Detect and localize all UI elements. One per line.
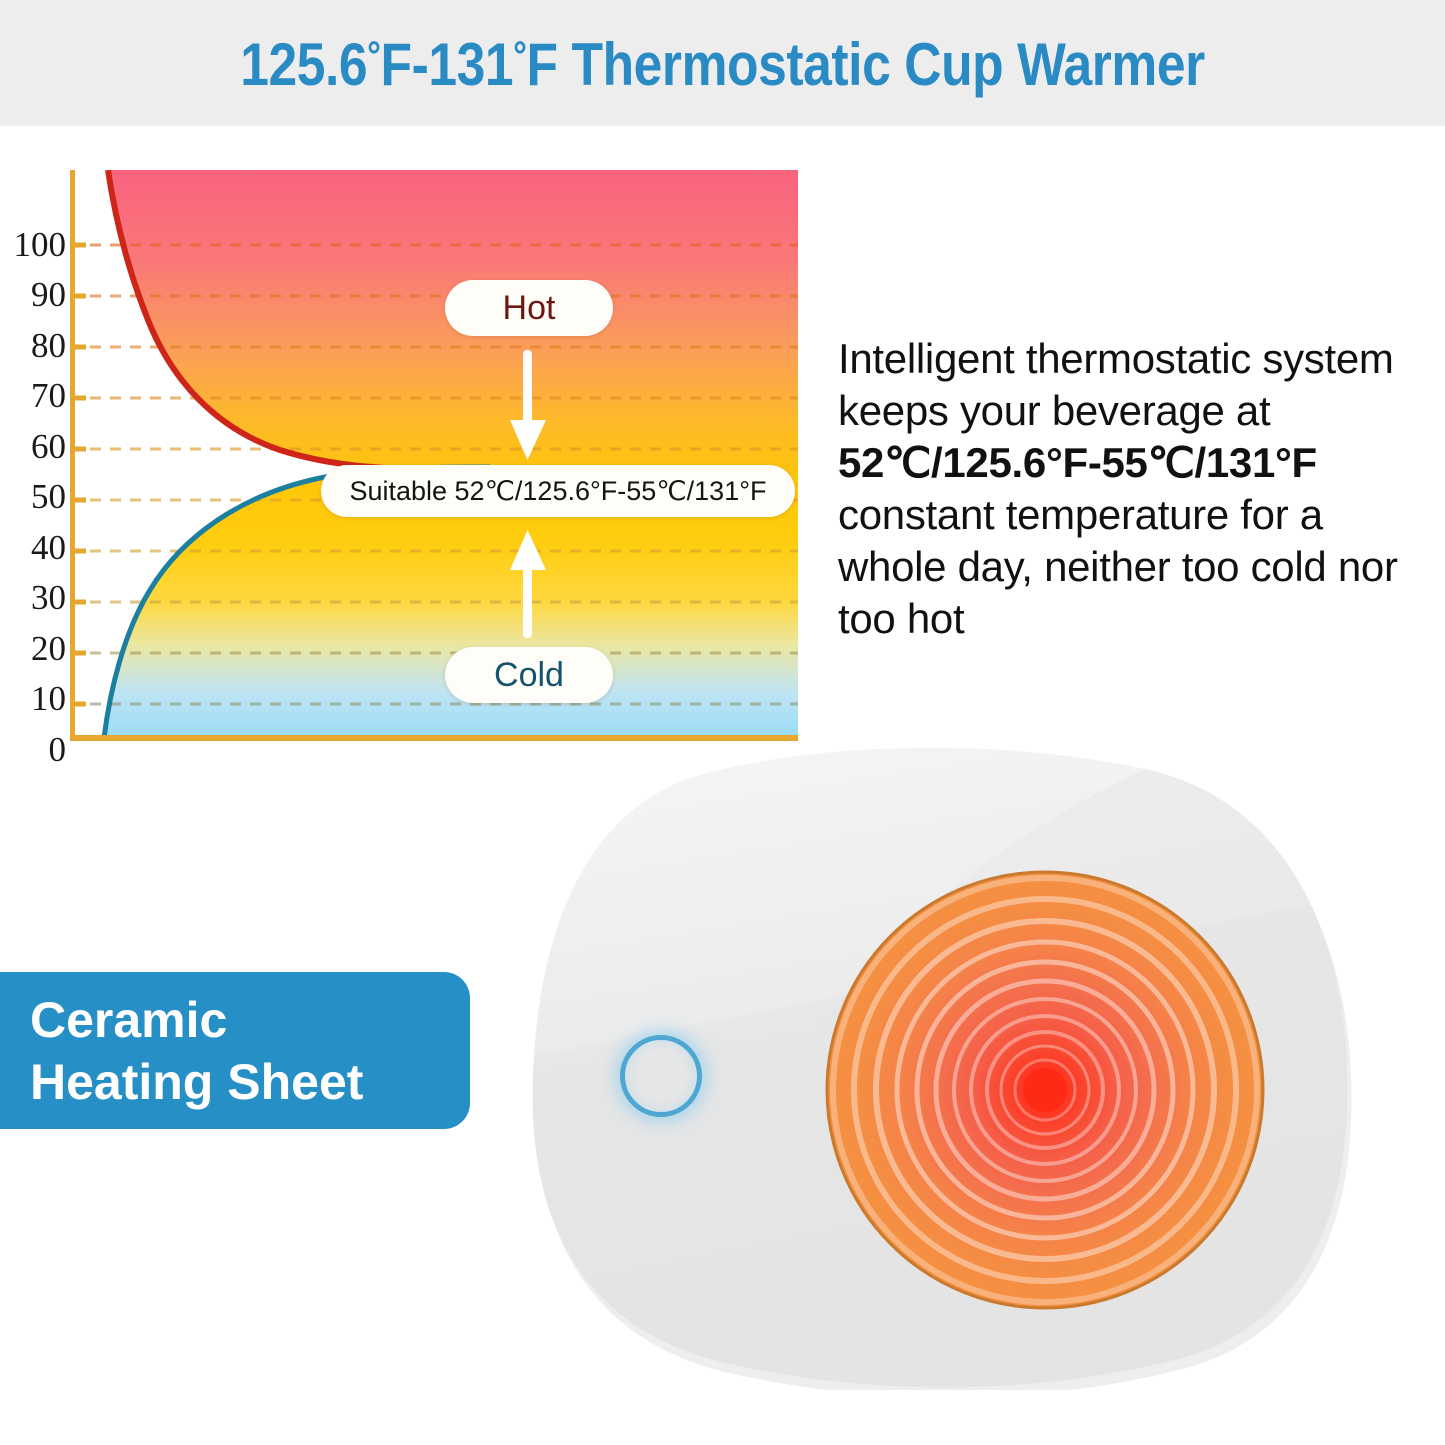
y-tick-60: 60 [0, 429, 66, 464]
y-tick-70: 70 [0, 378, 66, 413]
celsius-symbol-2: ℃ [656, 476, 686, 507]
y-tick-40: 40 [0, 530, 66, 565]
feature-line-1: Intelligent thermostatic system [838, 335, 1394, 382]
feature-description: Intelligent thermostatic system keeps yo… [838, 333, 1438, 645]
hot-label-pill: Hot [445, 280, 613, 336]
page-title-mid: F-131 [381, 31, 514, 98]
feature-line-2a: keeps your beverage at [838, 387, 1270, 434]
y-tick-0: 0 [0, 732, 66, 767]
page-title: 125.6°F-131°F Thermostatic Cup Warmer [101, 30, 1344, 99]
cup-warmer-device [515, 745, 1355, 1390]
y-tick-80: 80 [0, 328, 66, 363]
cold-label-pill: Cold [445, 647, 613, 703]
y-tick-30: 30 [0, 580, 66, 615]
suitable-mid-1: /125.6 [515, 476, 590, 507]
suitable-range-pill: Suitable 52℃/125.6°F-55℃/131°F [321, 465, 795, 517]
celsius-symbol-1: ℃ [485, 476, 515, 507]
hot-label-text: Hot [503, 289, 556, 328]
power-button[interactable] [620, 1035, 702, 1117]
degree-symbol-3: ° [590, 476, 601, 507]
y-tick-90: 90 [0, 277, 66, 312]
degree-symbol-4: ° [739, 476, 750, 507]
badge-line-2: Heating Sheet [30, 1051, 470, 1113]
y-tick-100: 100 [0, 227, 66, 262]
chart-y-axis-labels: 100 90 80 70 60 50 40 30 20 10 0 [0, 150, 66, 770]
page-title-prefix: 125.6 [240, 31, 367, 98]
suitable-mid-3: /131 [687, 476, 740, 507]
page-title-suffix: F Thermostatic Cup Warmer [526, 31, 1204, 98]
y-tick-20: 20 [0, 631, 66, 666]
suitable-mid-2: F-55 [601, 476, 657, 507]
badge-line-1: Ceramic [30, 989, 470, 1051]
feature-temp-bold-1: 52℃/ [838, 439, 942, 486]
temperature-chart: 100 90 80 70 60 50 40 30 20 10 0 [0, 150, 820, 770]
degree-symbol-1: ° [367, 34, 380, 78]
chart-plot-area: Hot Cold Suitable 52℃/125.6°F-55℃/131°F [70, 170, 798, 738]
degree-symbol-2: ° [513, 34, 526, 78]
heating-core [1023, 1068, 1067, 1112]
ceramic-heating-sheet-badge: Ceramic Heating Sheet [0, 972, 470, 1129]
suitable-suffix: F [750, 476, 767, 507]
feature-temp-bold-2: 125.6°F-55℃/131°F [942, 439, 1317, 486]
cold-label-text: Cold [494, 656, 564, 695]
y-tick-10: 10 [0, 681, 66, 716]
y-tick-50: 50 [0, 479, 66, 514]
suitable-prefix: Suitable 52 [349, 476, 484, 507]
feature-line-3a: constant [838, 491, 994, 538]
